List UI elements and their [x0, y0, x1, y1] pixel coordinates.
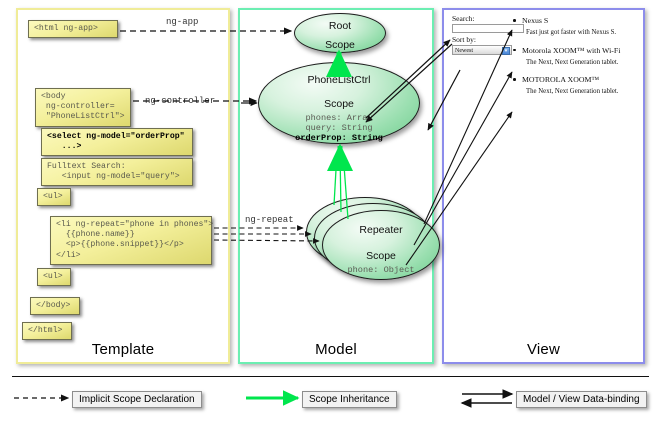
- bullet-icon: [513, 78, 516, 81]
- scope-plc-prop-query: query: String: [259, 123, 419, 133]
- column-label-view: View: [444, 341, 643, 358]
- list-item[interactable]: Nexus S Fast just got faster with Nexus …: [512, 16, 640, 37]
- scope-repeater-title-line1: Repeater: [323, 224, 439, 237]
- scope-root-title-line1: Root: [295, 20, 385, 33]
- scope-ellipse-repeater-front: Repeater Scope phone: Object: [322, 210, 440, 280]
- code-box-body-open: <body ng-controller= "PhoneListCtrl">: [35, 88, 131, 127]
- phone-snippet: Fast just got faster with Nexus S.: [526, 29, 640, 37]
- list-item[interactable]: MOTOROLA XOOM™ The Next, Next Generation…: [512, 75, 640, 96]
- scope-ellipse-root: Root Scope: [294, 13, 386, 53]
- scope-plc-title-line1: PhoneListCtrl: [259, 74, 419, 87]
- sort-select-value: Newest: [455, 48, 473, 54]
- column-label-model: Model: [240, 341, 432, 358]
- code-box-ul-open: <ul>: [37, 188, 71, 206]
- list-item[interactable]: Motorola XOOM™ with Wi-Fi The Next, Next…: [512, 46, 640, 67]
- phone-name: Motorola XOOM™ with Wi-Fi: [522, 46, 640, 55]
- legend-divider: [12, 376, 649, 377]
- legend-scope-inheritance: Scope Inheritance: [302, 391, 397, 408]
- legend-implicit-scope-declaration: Implicit Scope Declaration: [72, 391, 202, 408]
- code-box-body-close: </body>: [30, 297, 80, 315]
- sort-select[interactable]: Newest ▾: [452, 45, 512, 55]
- scope-repeater-title-line2: Scope: [323, 250, 439, 263]
- code-box-ul-close: <ul>: [37, 268, 71, 286]
- diagram-canvas: Template Model View <html ng-app> <body …: [0, 0, 661, 425]
- phone-snippet: The Next, Next Generation tablet.: [526, 88, 640, 96]
- scope-plc-prop-phones: phones: Array: [259, 113, 419, 123]
- edge-label-ng-controller: ng-controller: [145, 96, 215, 106]
- code-box-html-open: <html ng-app>: [28, 20, 118, 38]
- bullet-icon: [513, 49, 516, 52]
- scope-plc-properties: phones: Array query: String orderProp: S…: [259, 113, 419, 143]
- scope-repeater-prop-phone: phone: Object: [323, 265, 439, 275]
- scope-plc-prop-orderprop: orderProp: String: [259, 133, 419, 143]
- phone-snippet: The Next, Next Generation tablet.: [526, 59, 640, 67]
- edge-label-ng-repeat: ng-repeat: [245, 215, 294, 225]
- scope-plc-title-line2: Scope: [259, 98, 419, 111]
- scope-ellipse-phonelistctrl: PhoneListCtrl Scope phones: Array query:…: [258, 62, 420, 144]
- code-box-select: <select ng-model="orderProp" ...>: [41, 128, 193, 156]
- code-box-li-repeat: <li ng-repeat="phone in phones"> {{phone…: [50, 216, 212, 265]
- chevron-down-icon: ▾: [502, 47, 510, 55]
- phone-name: Nexus S: [522, 16, 640, 25]
- view-mockup: Search: Sort by: Newest ▾ Nexus S Fast j…: [452, 14, 640, 144]
- code-box-input: Fulltext Search: <input ng-model="query"…: [41, 158, 193, 186]
- phone-name: MOTOROLA XOOM™: [522, 75, 640, 84]
- column-label-template: Template: [18, 341, 228, 358]
- phone-list: Nexus S Fast just got faster with Nexus …: [512, 16, 640, 105]
- legend-model-view-data-binding: Model / View Data-binding: [516, 391, 647, 408]
- bullet-icon: [513, 19, 516, 22]
- code-box-html-close: </html>: [22, 322, 72, 340]
- edge-label-ng-app: ng-app: [166, 17, 198, 27]
- scope-repeater-properties: phone: Object: [323, 265, 439, 275]
- scope-root-title-line2: Scope: [295, 39, 385, 52]
